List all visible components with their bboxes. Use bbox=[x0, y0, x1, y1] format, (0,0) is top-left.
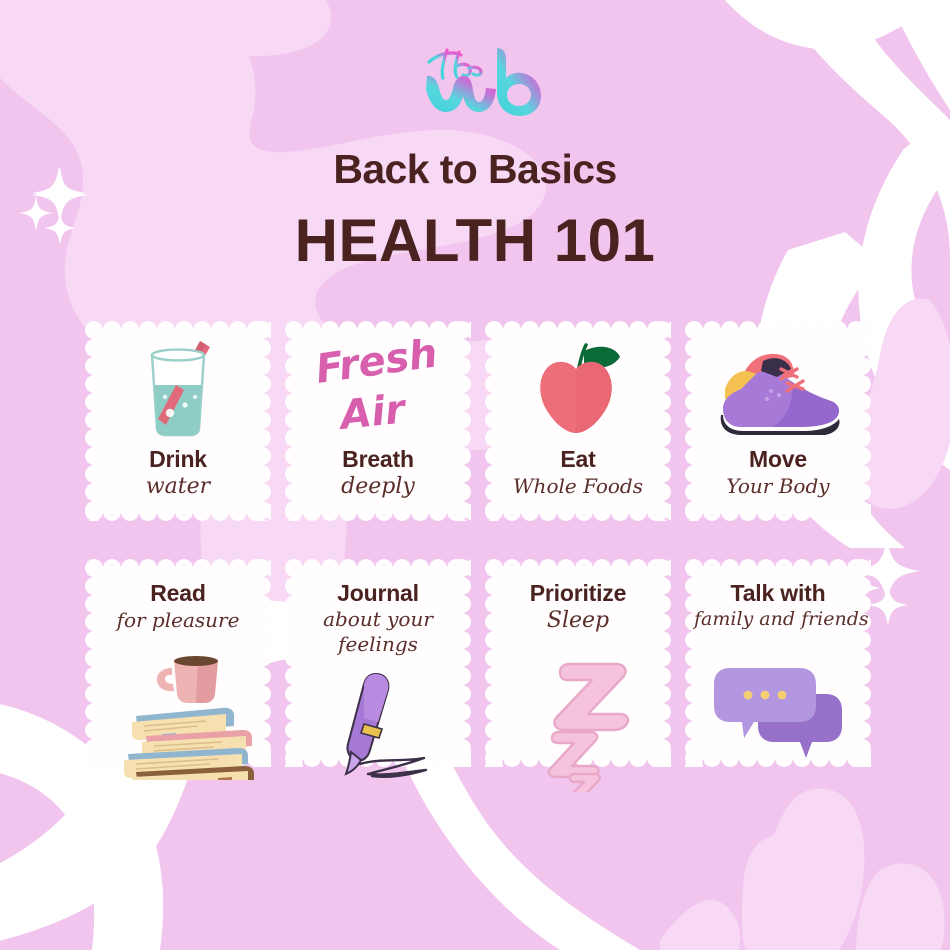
card-title: Prioritize bbox=[494, 582, 662, 605]
card-title: Eat bbox=[494, 448, 662, 471]
card-subtitle: for pleasure bbox=[94, 609, 262, 631]
card-subtitle: family and friends bbox=[694, 609, 862, 630]
brand-logo bbox=[0, 42, 950, 118]
card-title: Talk with bbox=[694, 582, 862, 605]
sleep-zzz-icon bbox=[538, 662, 648, 792]
card-subtitle: about your bbox=[294, 609, 462, 630]
logo-letter-b bbox=[497, 48, 541, 116]
fresh-air-icon: Fresh Air bbox=[312, 339, 444, 443]
page-kicker: Back to Basics bbox=[0, 148, 950, 191]
fresh-air-line1: Fresh bbox=[313, 339, 440, 393]
card-subtitle-line2: feelings bbox=[294, 634, 462, 655]
tips-row-one: Drink water Fresh A bbox=[78, 330, 878, 512]
sneaker-icon bbox=[707, 339, 849, 443]
card-subtitle: Your Body bbox=[694, 475, 862, 497]
card-title: Read bbox=[94, 582, 262, 605]
infographic-canvas: Back to Basics HEALTH 101 bbox=[0, 0, 950, 950]
card-breath-deeply[interactable]: Fresh Air Breath deeply bbox=[294, 330, 462, 512]
pen-icon bbox=[320, 672, 448, 782]
tips-grid: Drink water Fresh A bbox=[78, 330, 878, 758]
card-eat-whole-foods[interactable]: Eat Whole Foods bbox=[494, 330, 662, 512]
card-move-your-body[interactable]: Move Your Body bbox=[694, 330, 862, 512]
logo-script-the bbox=[429, 50, 481, 78]
card-subtitle: Whole Foods bbox=[494, 475, 662, 497]
card-subtitle: Sleep bbox=[494, 609, 662, 633]
card-title: Drink bbox=[94, 448, 262, 471]
card-subtitle: deeply bbox=[294, 475, 462, 499]
blob-bottom-petal bbox=[761, 789, 864, 950]
card-title: Breath bbox=[294, 448, 462, 471]
card-talk-family-friends[interactable]: Talk with family and friends bbox=[694, 568, 862, 758]
card-title: Journal bbox=[294, 582, 462, 605]
page-title: HEALTH 101 bbox=[0, 209, 950, 272]
card-drink-water[interactable]: Drink water bbox=[94, 330, 262, 512]
book-stack-icon bbox=[102, 650, 270, 780]
header-block: Back to Basics HEALTH 101 bbox=[0, 148, 950, 272]
card-read-for-pleasure[interactable]: Read for pleasure bbox=[94, 568, 262, 758]
fresh-air-line2: Air bbox=[335, 386, 409, 439]
card-journal-feelings[interactable]: Journal about your feelings bbox=[294, 568, 462, 758]
card-title: Move bbox=[694, 448, 862, 471]
blob-bottom-right bbox=[660, 832, 945, 950]
speech-bubbles-icon bbox=[714, 664, 846, 760]
coffee-mug-icon bbox=[157, 656, 218, 703]
apple-icon bbox=[524, 339, 632, 443]
logo-letter-w bbox=[426, 76, 496, 112]
card-subtitle: water bbox=[94, 475, 262, 499]
card-prioritize-sleep[interactable]: Prioritize Sleep bbox=[494, 568, 662, 758]
tips-row-two: Read for pleasure bbox=[78, 568, 878, 758]
water-glass-icon bbox=[130, 337, 226, 445]
